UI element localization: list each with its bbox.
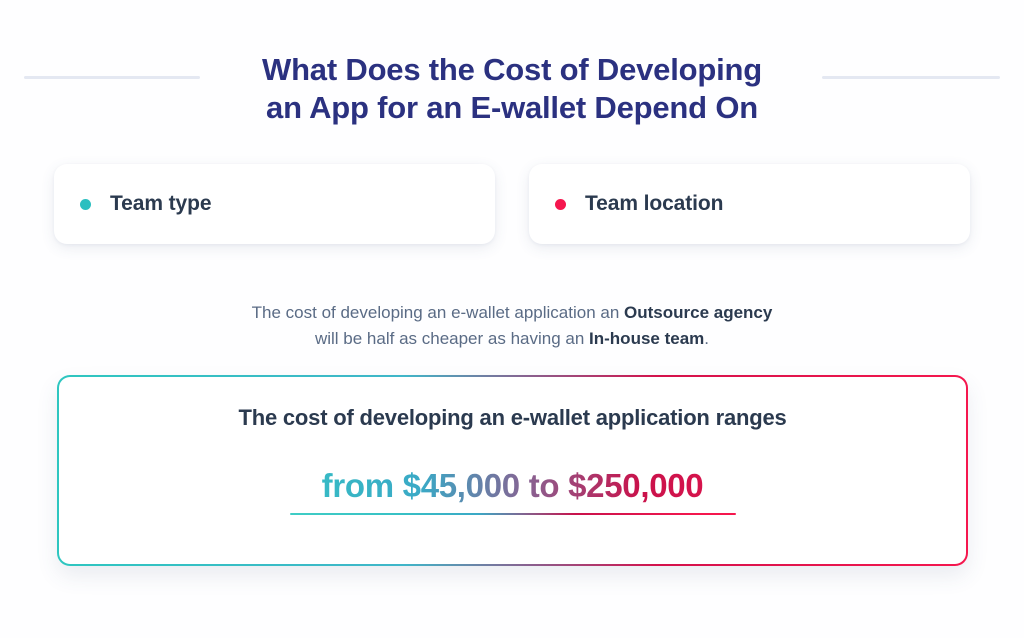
bullet-red-icon [555,199,566,210]
description-line1-text: The cost of developing an e-wallet appli… [252,303,624,322]
cost-max-amount: $250,000 [568,467,703,504]
cost-range-underline [290,513,736,515]
cost-range-value: from $45,000 to $250,000 [59,467,966,505]
cost-range-box: The cost of developing an e-wallet appli… [57,375,968,566]
factor-card-team-type[interactable]: Team type [54,164,495,244]
factor-card-team-location[interactable]: Team location [529,164,970,244]
description-paragraph: The cost of developing an e-wallet appli… [132,300,892,352]
description-line1-emphasis: Outsource agency [624,303,772,322]
factor-label: Team location [585,192,723,216]
page-title: What Does the Cost of Developing an App … [152,51,872,127]
factor-label: Team type [110,192,211,216]
cost-box-heading: The cost of developing an e-wallet appli… [59,405,966,431]
cost-range-join: to [520,467,568,504]
description-line2-text: will be half as cheaper as having an [315,329,589,348]
bullet-teal-icon [80,199,91,210]
title-row: What Does the Cost of Developing an App … [0,30,1024,122]
infographic-page: What Does the Cost of Developing an App … [0,0,1024,638]
description-line2-emphasis: In-house team [589,329,704,348]
description-line2-suffix: . [704,329,709,348]
cost-range-box-inner: The cost of developing an e-wallet appli… [59,377,966,564]
cost-min-amount: $45,000 [403,467,520,504]
factor-card-list: Team type Team location [54,164,970,244]
cost-range-prefix: from [322,467,403,504]
